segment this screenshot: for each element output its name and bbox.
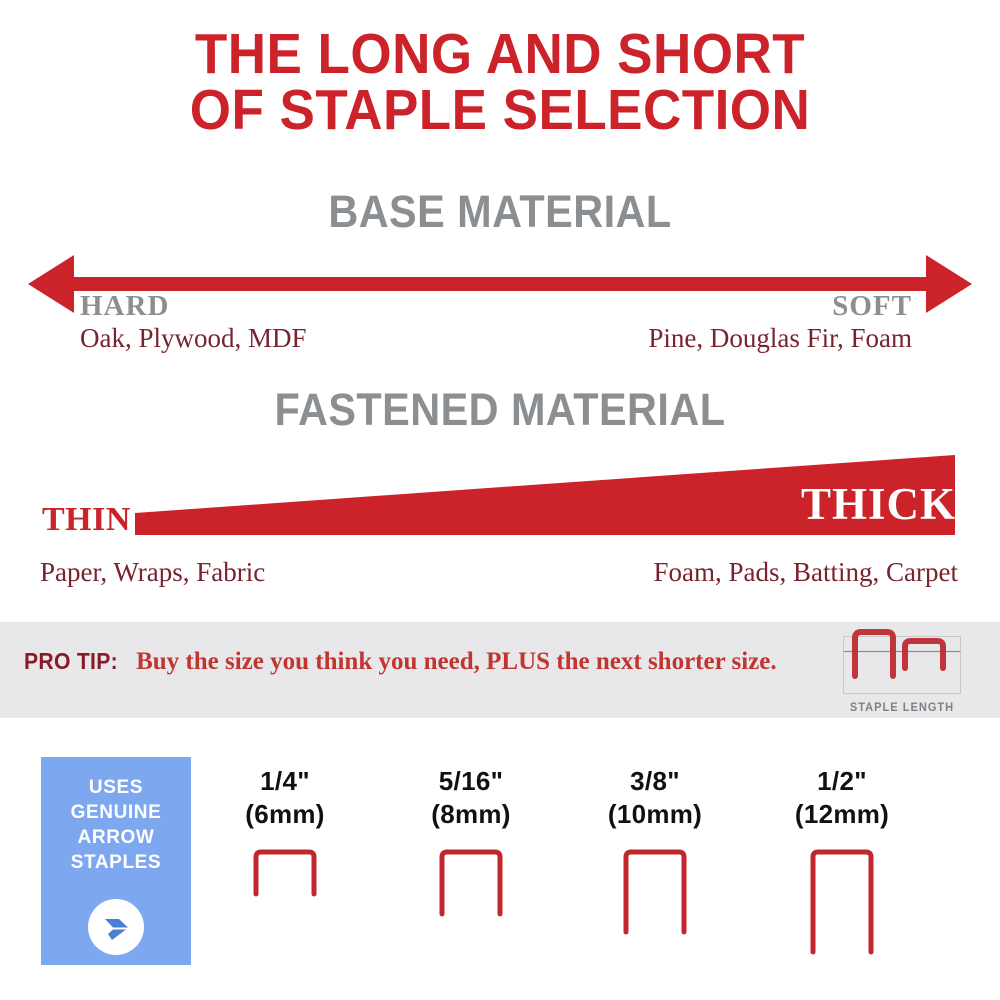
staple-size-column: 1/2" (12mm) (752, 765, 932, 979)
staple-size-imperial: 1/4" (195, 765, 375, 798)
thin-description: Paper, Wraps, Fabric (40, 557, 265, 588)
staple-size-column: 3/8" (10mm) (565, 765, 745, 979)
staple-size-metric: (6mm) (195, 798, 375, 831)
base-material-heading: BASE MATERIAL (40, 186, 960, 238)
base-material-hard-end: HARD Oak, Plywood, MDF (80, 291, 307, 355)
badge-text-block: USES GENUINE ARROW STAPLES (41, 775, 191, 875)
arrow-head-right-icon (926, 255, 972, 313)
arrow-shaft (70, 277, 930, 291)
base-material-soft-end: SOFT Pine, Douglas Fir, Foam (648, 291, 912, 355)
soft-description: Pine, Douglas Fir, Foam (648, 321, 912, 355)
staple-size-metric: (12mm) (752, 798, 932, 831)
pro-tip-lead: PRO TIP: (24, 648, 118, 675)
staple-size-imperial: 1/2" (752, 765, 932, 798)
page-title: THE LONG AND SHORT OF STAPLE SELECTION (0, 26, 1000, 138)
arrow-head-left-icon (28, 255, 74, 313)
pro-tip-body: Buy the size you think you need, PLUS th… (136, 648, 777, 676)
title-line-1: THE LONG AND SHORT (35, 26, 965, 82)
staple-size-imperial: 5/16" (381, 765, 561, 798)
thick-description: Foam, Pads, Batting, Carpet (654, 557, 958, 588)
staple-illustration-0 (195, 849, 375, 979)
badge-line-2: GENUINE (41, 800, 191, 825)
badge-line-3: ARROW (41, 825, 191, 850)
badge-line-1: USES (41, 775, 191, 800)
staple-size-metric: (10mm) (565, 798, 745, 831)
staple-size-column: 5/16" (8mm) (381, 765, 561, 979)
thin-label: THIN (42, 501, 131, 539)
staple-size-column: 1/4" (6mm) (195, 765, 375, 979)
fastened-material-heading: FASTENED MATERIAL (40, 384, 960, 436)
staple-length-legend-icon (843, 628, 961, 694)
staple-size-imperial: 3/8" (565, 765, 745, 798)
staple-illustration-1 (381, 849, 561, 979)
arrow-brand-logo-icon (88, 899, 144, 955)
staple-size-metric: (8mm) (381, 798, 561, 831)
genuine-arrow-staples-badge: USES GENUINE ARROW STAPLES (41, 757, 191, 965)
hard-label: HARD (80, 291, 307, 321)
staple-length-caption: STAPLE LENGTH (848, 700, 957, 714)
staple-illustration-3 (752, 849, 932, 979)
pro-tip-text: PRO TIP: Buy the size you think you need… (24, 648, 777, 676)
staple-illustration-2 (565, 849, 745, 979)
title-line-2: OF STAPLE SELECTION (35, 82, 965, 138)
hard-description: Oak, Plywood, MDF (80, 321, 307, 355)
soft-label: SOFT (648, 291, 912, 321)
thick-label: THICK (801, 478, 956, 530)
badge-line-4: STAPLES (41, 850, 191, 875)
